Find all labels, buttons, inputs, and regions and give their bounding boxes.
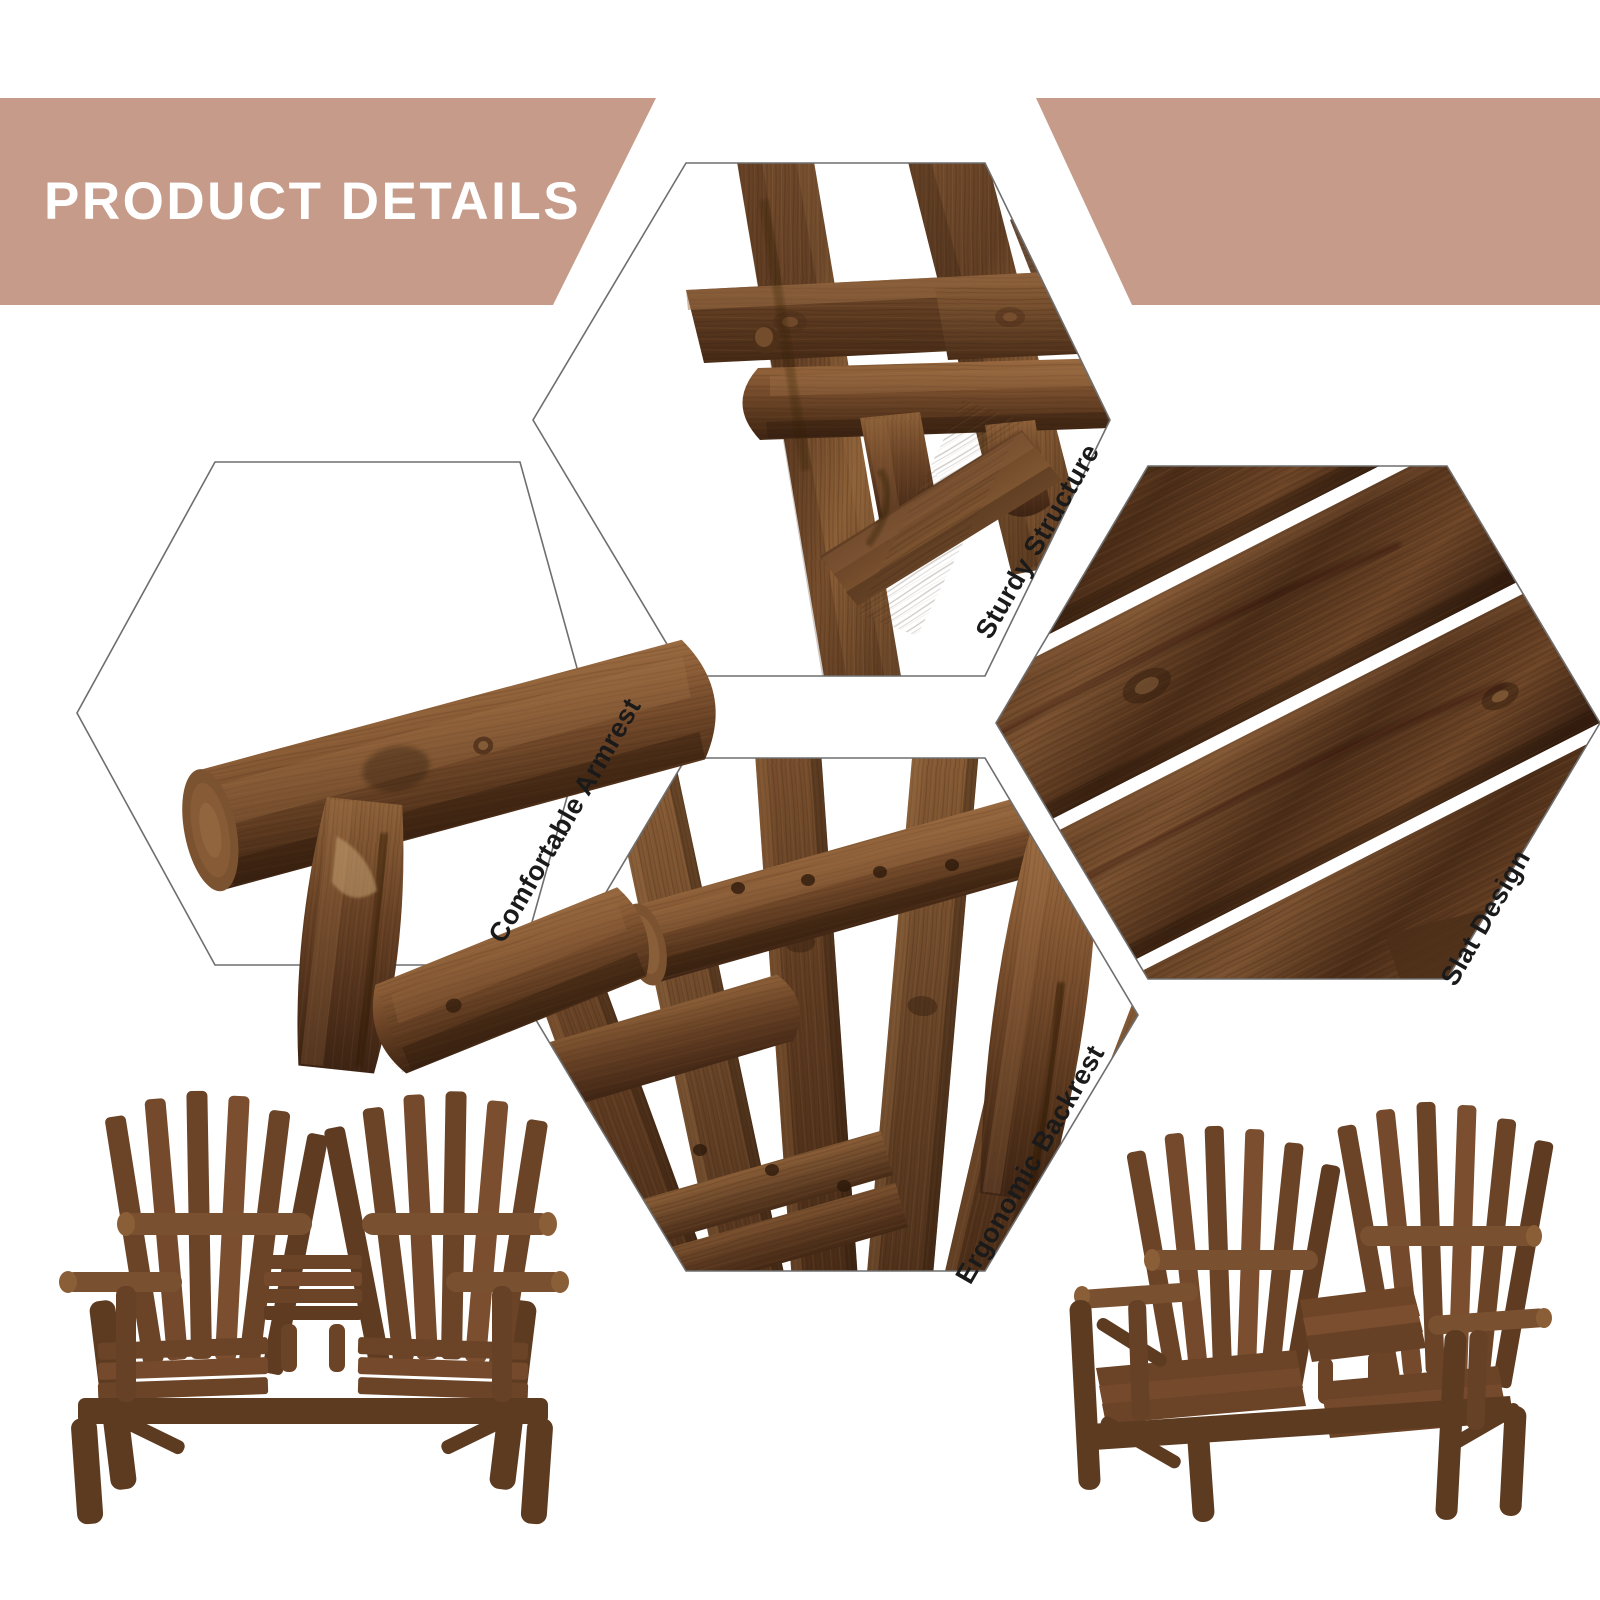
banner-right-block (1036, 98, 1600, 305)
product-photo-angled-view (1069, 1102, 1554, 1523)
infographic-canvas: PRODUCT DETAILS Sturdy Structure Comfort… (0, 0, 1600, 1600)
infographic-svg (0, 0, 1600, 1600)
page-title: PRODUCT DETAILS (44, 175, 581, 228)
product-photo-front-view (59, 1091, 569, 1525)
